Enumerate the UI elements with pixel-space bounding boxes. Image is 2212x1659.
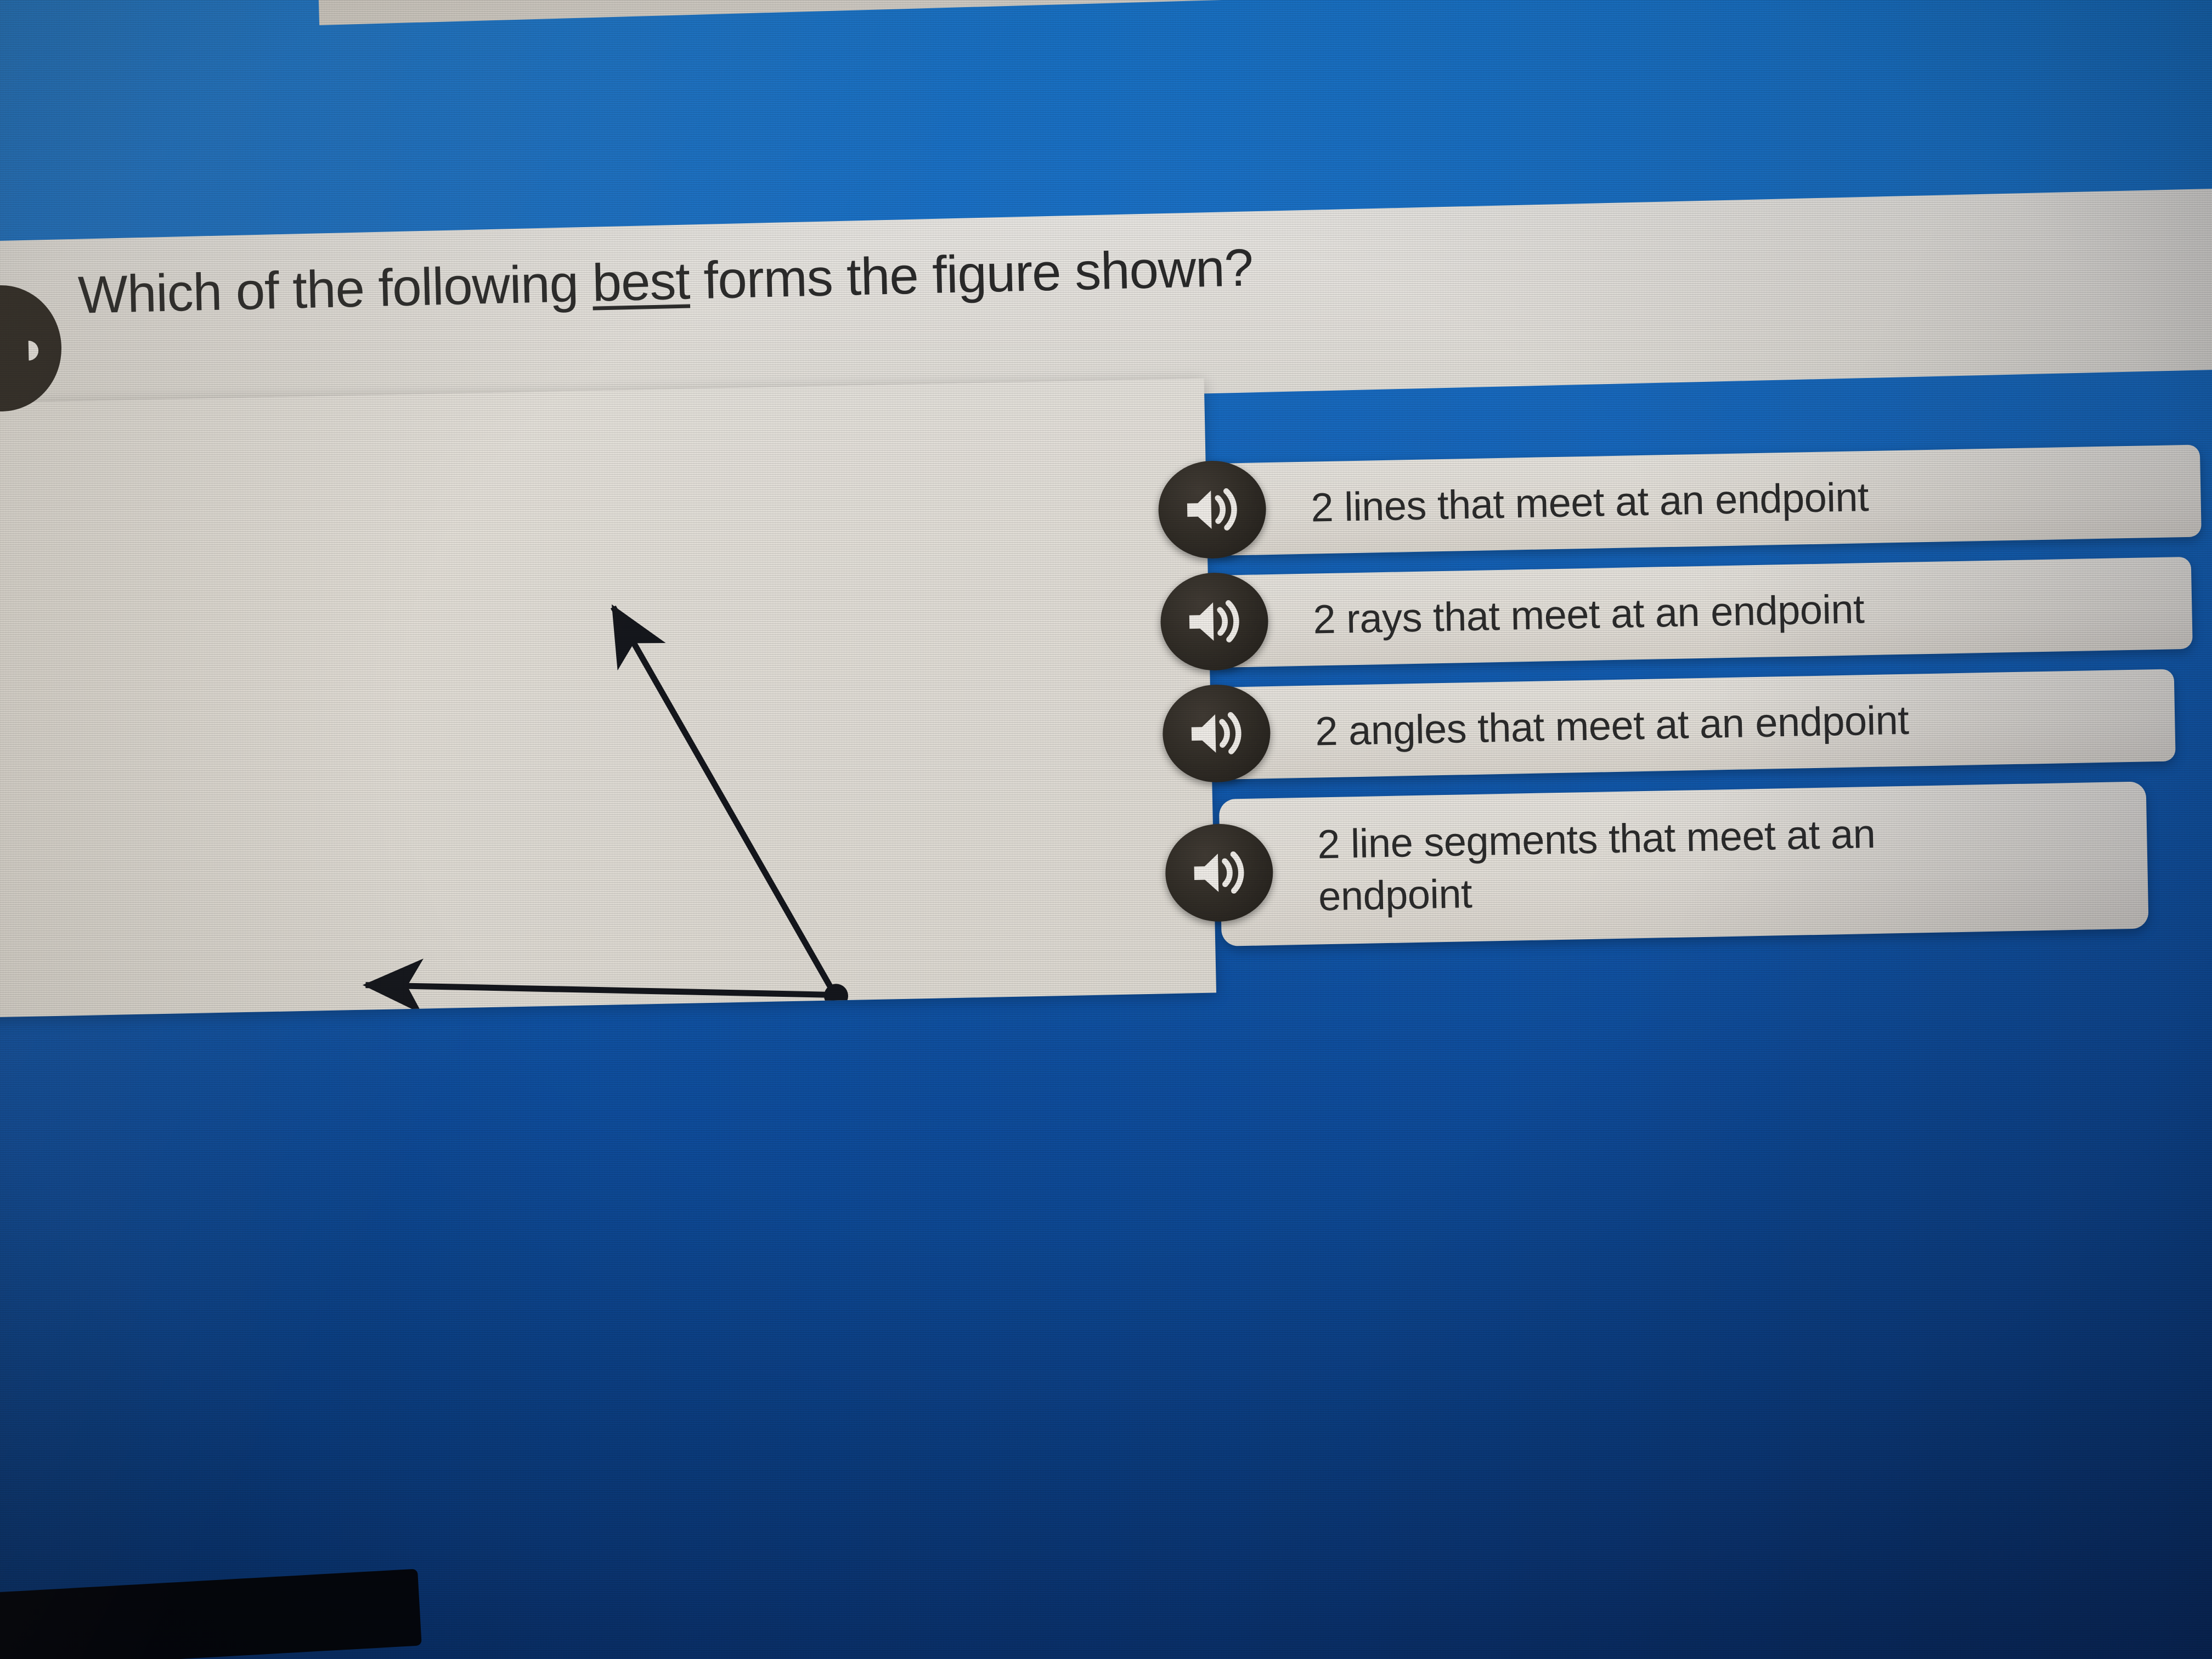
question-text-prefix: Which of the following <box>77 254 593 325</box>
device-bezel-corner <box>0 1569 422 1659</box>
screen-top-edge-strip <box>318 0 2212 25</box>
answer-options-list: 2 lines that meet at an endpoint 2 rays … <box>1212 445 2204 966</box>
option-4-label-line1: 2 line segments that meet at an <box>1317 811 1876 867</box>
screen-photo: Which of the following best forms the fi… <box>0 0 2212 1659</box>
question-text: Which of the following best forms the fi… <box>77 238 1254 325</box>
figure-panel <box>0 379 1216 1018</box>
speaker-icon-glyph <box>1188 846 1250 900</box>
angle-figure <box>0 379 1216 1018</box>
option-2-label: 2 rays that meet at an endpoint <box>1215 568 1898 662</box>
speaker-icon-glyph <box>1186 707 1248 760</box>
speaker-icon-glyph: ◗ <box>19 324 48 371</box>
answer-option-2[interactable]: 2 rays that meet at an endpoint <box>1215 557 2193 668</box>
answer-option-3[interactable]: 2 angles that meet at an endpoint <box>1217 669 2176 779</box>
speaker-icon-glyph <box>1183 595 1246 648</box>
option-4-label: 2 line segments that meet at anendpoint <box>1219 793 1910 939</box>
answer-option-4[interactable]: 2 line segments that meet at anendpoint <box>1219 781 2149 946</box>
speaker-icon-glyph <box>1181 483 1244 537</box>
ray-upper-left <box>613 603 835 1000</box>
question-text-emphasis: best <box>591 251 690 312</box>
option-4-label-line2: endpoint <box>1318 871 1472 919</box>
answer-option-1[interactable]: 2 lines that meet at an endpoint <box>1212 444 2202 556</box>
option-1-label: 2 lines that meet at an endpoint <box>1212 456 1902 550</box>
question-text-suffix: forms the figure shown? <box>689 238 1254 310</box>
option-3-label: 2 angles that meet at an endpoint <box>1217 679 1943 774</box>
ray-left <box>365 975 835 1004</box>
